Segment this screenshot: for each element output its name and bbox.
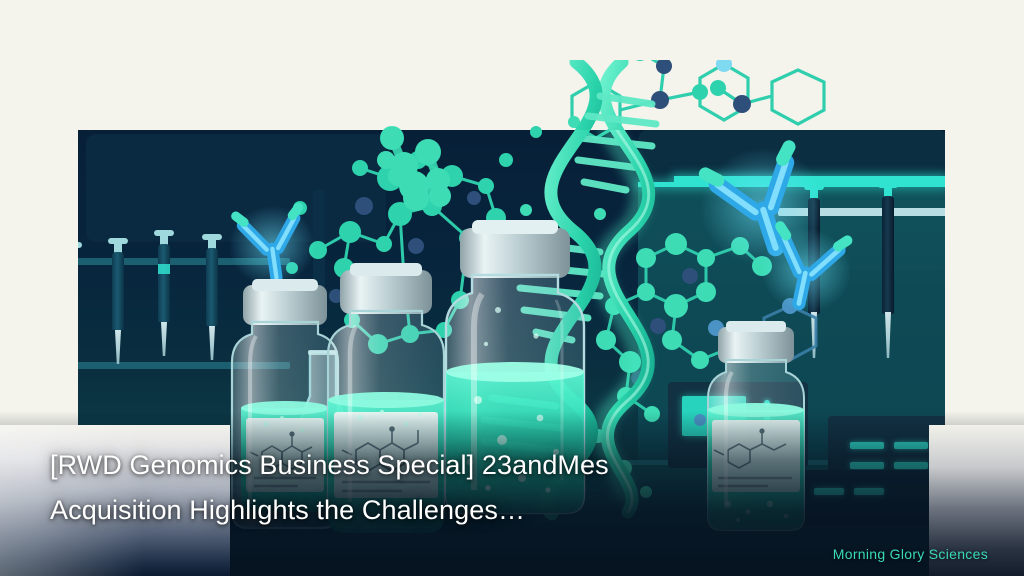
cabinet-post: [313, 190, 325, 310]
right-shelf-edge: [638, 182, 945, 187]
top-background-mask: [0, 0, 1024, 130]
pipette-right-1: [804, 184, 824, 359]
pipette-right-2: [878, 182, 898, 360]
attribution-label: Morning Glory Sciences: [833, 546, 988, 562]
article-title: [RWD Genomics Business Special] 23andMes…: [50, 443, 810, 533]
pipette-left-3: [154, 230, 174, 360]
screenshot-stage: [RWD Genomics Business Special] 23andMes…: [0, 0, 1024, 576]
pipette-left-2: [108, 238, 128, 368]
pipette-left-4: [202, 234, 222, 364]
back-cabinet-left: [86, 134, 386, 242]
pipette-left-1: [78, 242, 82, 372]
